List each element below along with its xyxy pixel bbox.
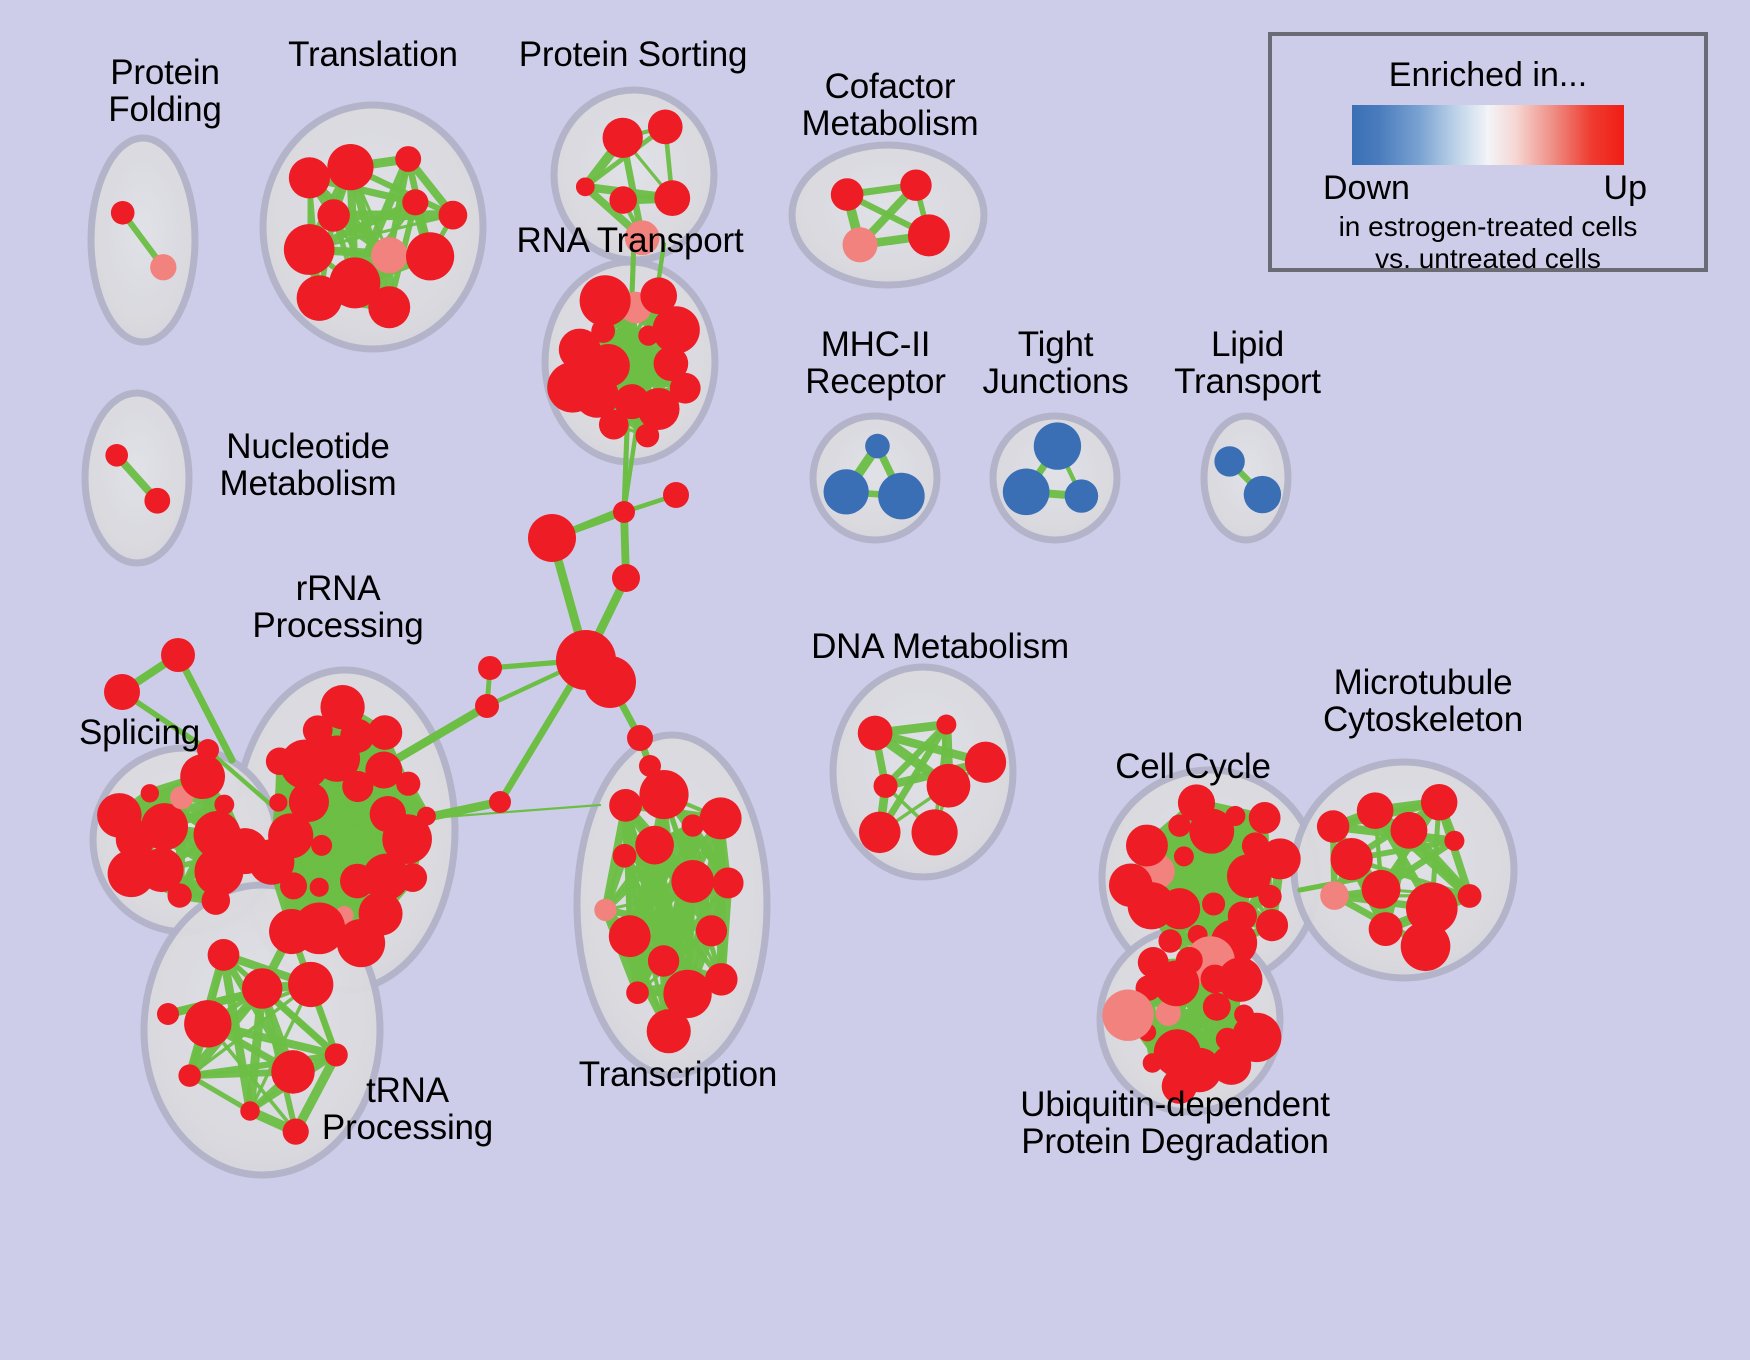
network-node <box>609 789 642 822</box>
network-node <box>696 915 727 946</box>
network-node <box>396 772 420 796</box>
network-node <box>878 473 925 520</box>
network-node <box>639 755 661 777</box>
network-node <box>202 886 230 914</box>
network-node <box>1260 838 1301 879</box>
network-node <box>528 514 576 562</box>
edge <box>721 818 722 979</box>
network-node <box>603 118 643 158</box>
network-node <box>1162 1068 1197 1103</box>
network-node <box>612 564 640 592</box>
network-node <box>478 656 502 680</box>
network-node <box>599 410 629 440</box>
network-node <box>874 774 898 798</box>
network-node <box>936 715 956 735</box>
network-node <box>576 177 595 196</box>
network-node <box>1178 784 1215 821</box>
network-node <box>609 915 651 957</box>
network-node <box>184 1000 231 1047</box>
network-node <box>327 144 373 190</box>
network-node <box>266 748 293 775</box>
network-node <box>625 220 660 255</box>
network-node <box>1218 957 1263 1002</box>
network-node <box>406 232 454 280</box>
network-node <box>635 826 674 865</box>
network-node <box>843 227 878 262</box>
network-node <box>178 1064 200 1086</box>
network-node <box>1401 921 1451 971</box>
network-node <box>417 807 436 826</box>
network-node <box>475 694 499 718</box>
network-node <box>1444 831 1464 851</box>
network-node <box>609 186 637 214</box>
network-node <box>594 899 616 921</box>
network-node <box>1065 479 1098 512</box>
network-node <box>663 482 689 508</box>
network-node <box>1458 884 1482 908</box>
network-node <box>371 237 408 274</box>
network-node <box>640 277 677 314</box>
network-node <box>1202 893 1225 916</box>
network-node <box>368 286 410 328</box>
network-node <box>97 793 142 838</box>
network-node <box>626 981 649 1004</box>
network-node <box>141 784 159 802</box>
network-node <box>1357 792 1394 829</box>
network-node <box>1320 881 1349 910</box>
network-node <box>700 797 742 839</box>
network-node <box>1421 784 1458 821</box>
network-node <box>108 850 155 897</box>
network-node <box>167 883 191 907</box>
network-node <box>654 180 690 216</box>
network-node <box>859 812 901 854</box>
network-node <box>648 945 679 976</box>
network-node <box>647 784 673 810</box>
network-node <box>1158 929 1181 952</box>
network-node <box>1143 1053 1162 1072</box>
network-node <box>912 809 958 855</box>
network-node <box>180 754 225 799</box>
network-node <box>648 110 683 145</box>
network-node <box>547 362 598 413</box>
network-node <box>214 795 234 815</box>
network-node <box>157 1003 179 1025</box>
network-node <box>670 373 701 404</box>
network-node <box>927 764 971 808</box>
network-node <box>713 867 744 898</box>
network-node <box>865 434 890 459</box>
enrichment-map-figure: Protein Folding Translation Protein Sort… <box>0 0 1750 1360</box>
legend-endpoints: Down Up <box>1323 167 1653 211</box>
network-node <box>1362 870 1401 909</box>
network-node <box>283 1119 309 1145</box>
network-node <box>489 791 511 813</box>
legend-up-label: Up <box>1604 169 1647 208</box>
network-node <box>269 909 314 954</box>
network-node <box>1102 989 1153 1040</box>
network-node <box>647 1009 691 1053</box>
network-node <box>1225 806 1245 826</box>
network-node <box>317 199 349 231</box>
network-node <box>824 469 869 514</box>
network-node <box>310 878 329 897</box>
network-node <box>1138 947 1169 978</box>
network-node <box>288 962 333 1007</box>
network-node <box>271 1050 315 1094</box>
network-node <box>671 860 714 903</box>
network-node <box>1034 422 1081 469</box>
network-node <box>908 214 950 256</box>
network-node <box>613 501 635 523</box>
network-node <box>1232 1013 1281 1062</box>
network-node <box>1390 812 1427 849</box>
network-node <box>337 919 385 967</box>
network-node <box>1258 885 1281 908</box>
network-node <box>1126 825 1168 867</box>
legend-down-label: Down <box>1323 169 1410 208</box>
network-node <box>368 715 403 750</box>
network-node <box>900 169 931 200</box>
network-node <box>402 189 428 215</box>
network-node <box>111 201 135 225</box>
network-node <box>320 685 364 729</box>
network-node <box>398 863 427 892</box>
legend-subtitle: in estrogen-treated cells vs. untreated … <box>1272 211 1704 276</box>
network-node <box>197 739 219 761</box>
legend-color-gradient-bar <box>1352 105 1624 165</box>
network-node <box>1174 846 1194 866</box>
network-node <box>1176 947 1203 974</box>
network-node <box>242 968 282 1008</box>
network-node <box>635 424 659 448</box>
network-node <box>1003 469 1050 516</box>
network-node <box>965 742 1006 783</box>
network-node <box>222 828 268 874</box>
network-node <box>150 254 176 280</box>
network-node <box>1330 838 1372 880</box>
network-node <box>1249 802 1281 834</box>
legend-title: Enriched in... <box>1272 56 1704 95</box>
network-node <box>627 725 653 751</box>
network-node <box>161 638 195 672</box>
legend-panel: Enriched in... Down Up in estrogen-treat… <box>1268 32 1708 272</box>
network-node <box>1109 863 1152 906</box>
network-node <box>104 674 140 710</box>
network-node <box>395 146 421 172</box>
network-node <box>1369 912 1403 946</box>
network-node <box>208 939 240 971</box>
network-node <box>284 224 335 275</box>
network-node <box>269 794 287 812</box>
network-node <box>240 1101 260 1121</box>
network-node <box>1317 810 1349 842</box>
network-node <box>584 656 636 708</box>
network-node <box>1244 476 1281 513</box>
network-node <box>297 275 342 320</box>
network-node <box>289 157 330 198</box>
network-node <box>831 178 864 211</box>
network-node <box>439 201 468 230</box>
network-node <box>858 716 893 751</box>
network-node <box>705 963 738 996</box>
network-node <box>1256 909 1288 941</box>
network-node <box>144 488 170 514</box>
network-node <box>325 1043 348 1066</box>
network-node <box>613 844 637 868</box>
network-node <box>311 835 332 856</box>
network-node <box>580 275 631 326</box>
network-node <box>105 444 128 467</box>
network-node <box>1214 446 1244 476</box>
